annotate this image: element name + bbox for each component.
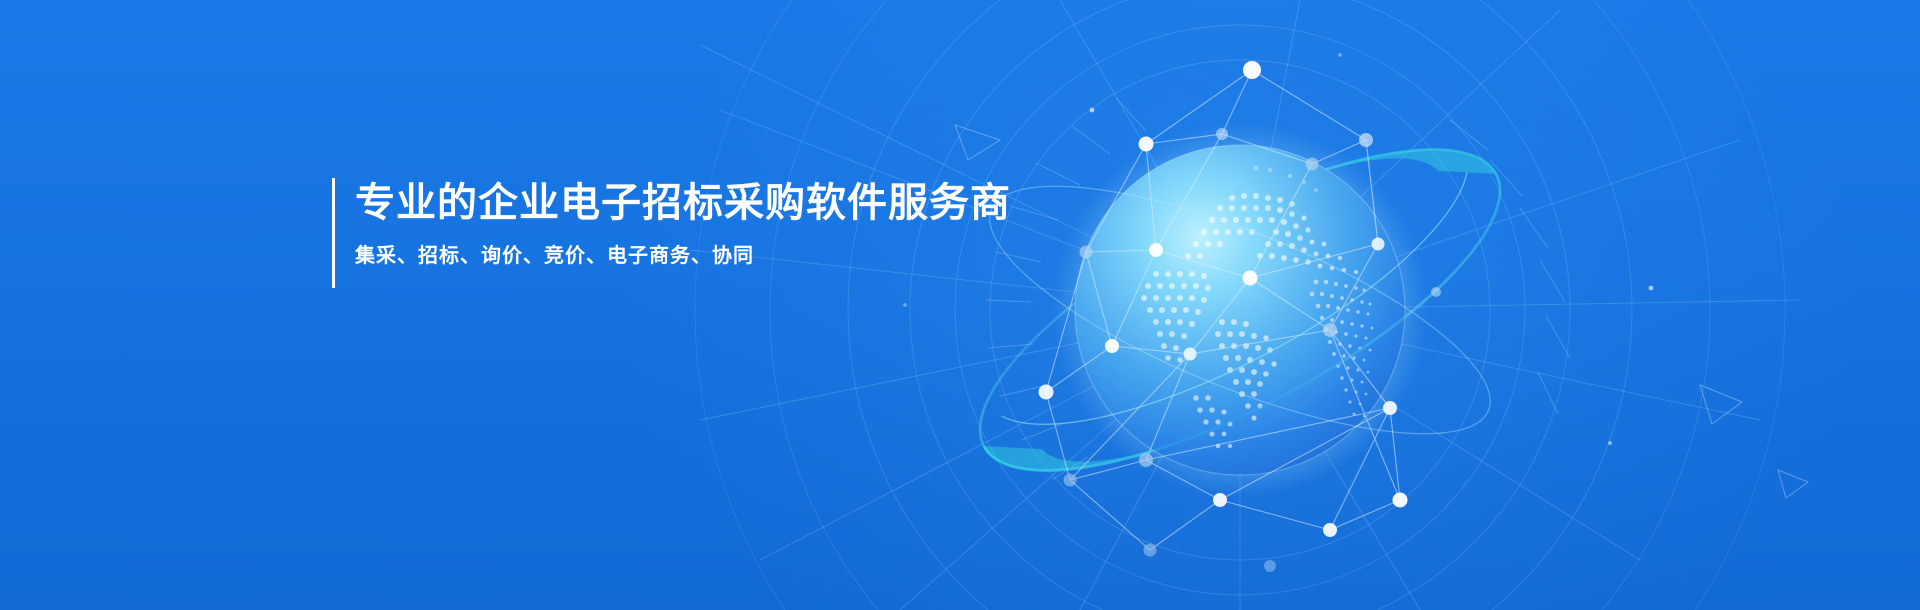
banner-headline: 专业的企业电子招标采购软件服务商 [355, 178, 1011, 228]
orbit-ring-front [975, 158, 1541, 531]
triangle-accent-right [1700, 385, 1742, 424]
speck-group [903, 53, 1653, 445]
globe-rim [1075, 145, 1405, 475]
orbit-ring-lobes [960, 93, 1539, 528]
orbit-ring-back [960, 89, 1541, 531]
globe-halo [1052, 122, 1428, 498]
globe-continent-dots [1141, 166, 1373, 449]
banner-subline: 集采、招标、询价、竞价、电子商务、协同 [355, 242, 1011, 270]
triangle-accents [955, 125, 1808, 498]
hero-banner: 专业的企业电子招标采购软件服务商 集采、招标、询价、竞价、电子商务、协同 [0, 0, 1920, 610]
network-edges [1046, 70, 1400, 550]
radial-arc-group [690, 0, 1800, 610]
network-nodes [1039, 61, 1442, 572]
globe-sphere [1075, 145, 1405, 475]
triangle-accent-left [955, 125, 1000, 160]
arc-tick-band [986, 98, 1570, 479]
concentric-arc-group [695, 0, 1785, 610]
triangle-accent-lower-right [1778, 470, 1808, 498]
network-globe-illustration [960, 30, 1580, 590]
banner-text-block: 专业的企业电子招标采购软件服务商 集采、招标、询价、竞价、电子商务、协同 [332, 178, 1011, 288]
background-gradient [0, 0, 1920, 610]
orbit-ring-secondary [962, 137, 1517, 482]
decorative-lines [0, 0, 1920, 610]
